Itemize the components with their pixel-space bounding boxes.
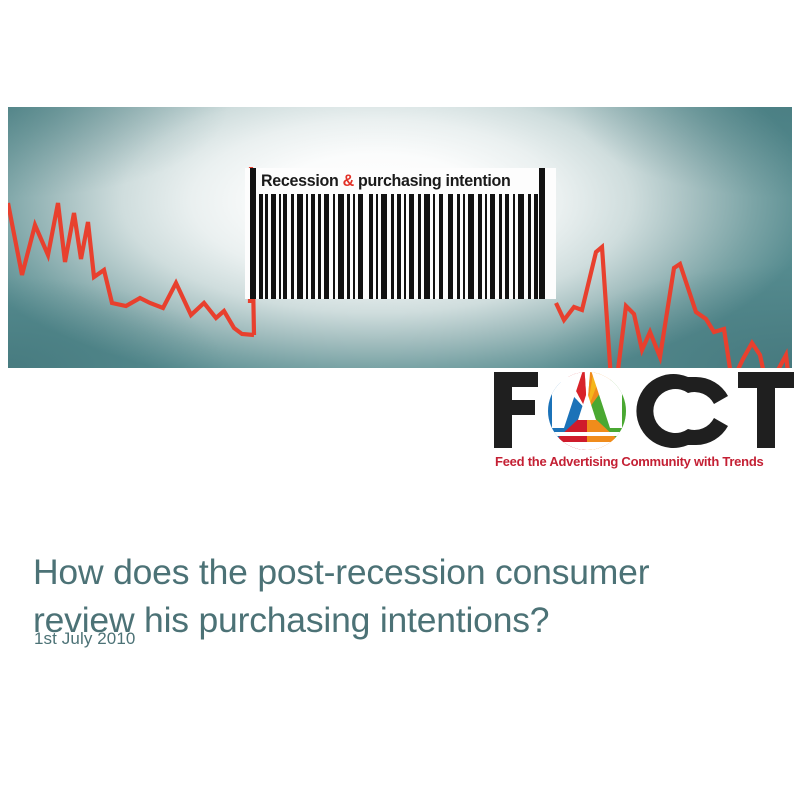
barcode-bar: [265, 194, 268, 299]
barcode-bar: [404, 194, 406, 299]
barcode-bar: [291, 194, 294, 299]
barcode-bar: [513, 194, 515, 299]
fact-logo: Feed the Advertising Community with Tren…: [492, 370, 796, 478]
logo-letter-c: [636, 374, 728, 448]
barcode-bar: [468, 194, 474, 299]
slide-canvas: Recession & purchasing intention: [0, 0, 800, 800]
barcode-bar: [490, 194, 495, 299]
barcode-bar: [358, 194, 363, 299]
barcode-graphic: Recession & purchasing intention: [245, 168, 556, 299]
page-title: How does the post-recession consumer rev…: [33, 548, 763, 644]
logo-letter-t: [738, 372, 794, 448]
barcode-bar: [324, 194, 329, 299]
barcode-label: Recession & purchasing intention: [261, 169, 510, 194]
barcode-bar: [297, 194, 303, 299]
barcode-bar: [311, 194, 315, 299]
barcode-bar: [283, 194, 287, 299]
barcode-bar: [250, 194, 256, 299]
barcode-bar: [433, 194, 435, 299]
barcode-bar: [457, 194, 460, 299]
barcode-bar: [376, 194, 378, 299]
barcode-bar: [424, 194, 430, 299]
recession-banner-image: Recession & purchasing intention: [8, 107, 792, 368]
barcode-bar: [439, 194, 443, 299]
barcode-bar: [485, 194, 487, 299]
barcode-bar: [528, 194, 531, 299]
barcode-bar: [306, 194, 308, 299]
barcode-bar: [369, 194, 373, 299]
barcode-bar: [418, 194, 421, 299]
barcode-label-prefix: Recession: [261, 172, 343, 190]
barcode-bar: [347, 194, 350, 299]
fact-tagline: Feed the Advertising Community with Tren…: [495, 454, 791, 469]
barcode-bar: [409, 194, 414, 299]
page-title-line-1: How does the post-recession consumer: [33, 548, 763, 596]
barcode-bars: [245, 194, 556, 299]
logo-letter-a-emblem: [532, 370, 642, 452]
chart-series-right: [556, 247, 792, 368]
logo-letter-f: [494, 372, 538, 448]
barcode-bar: [448, 194, 453, 299]
barcode-label-ampersand: &: [343, 172, 354, 190]
page-title-line-2: review his purchasing intentions?: [33, 596, 763, 644]
fact-wordmark: [492, 370, 796, 452]
barcode-bar: [499, 194, 502, 299]
chart-series-left: [8, 203, 254, 335]
barcode-bar: [279, 194, 281, 299]
barcode-label-suffix: purchasing intention: [354, 172, 511, 190]
barcode-bar: [353, 194, 355, 299]
barcode-bar: [391, 194, 394, 299]
barcode-bar: [463, 194, 465, 299]
barcode-bar: [333, 194, 335, 299]
barcode-bar: [505, 194, 509, 299]
barcode-bar: [259, 194, 263, 299]
barcode-bar: [271, 194, 276, 299]
barcode-bar: [397, 194, 401, 299]
barcode-bar: [518, 194, 524, 299]
barcode-bar: [539, 194, 545, 299]
barcode-bar: [478, 194, 482, 299]
barcode-bar: [318, 194, 321, 299]
barcode-bar: [381, 194, 387, 299]
presentation-date: 1st July 2010: [34, 629, 135, 649]
barcode-bar: [534, 194, 538, 299]
barcode-bar: [338, 194, 344, 299]
